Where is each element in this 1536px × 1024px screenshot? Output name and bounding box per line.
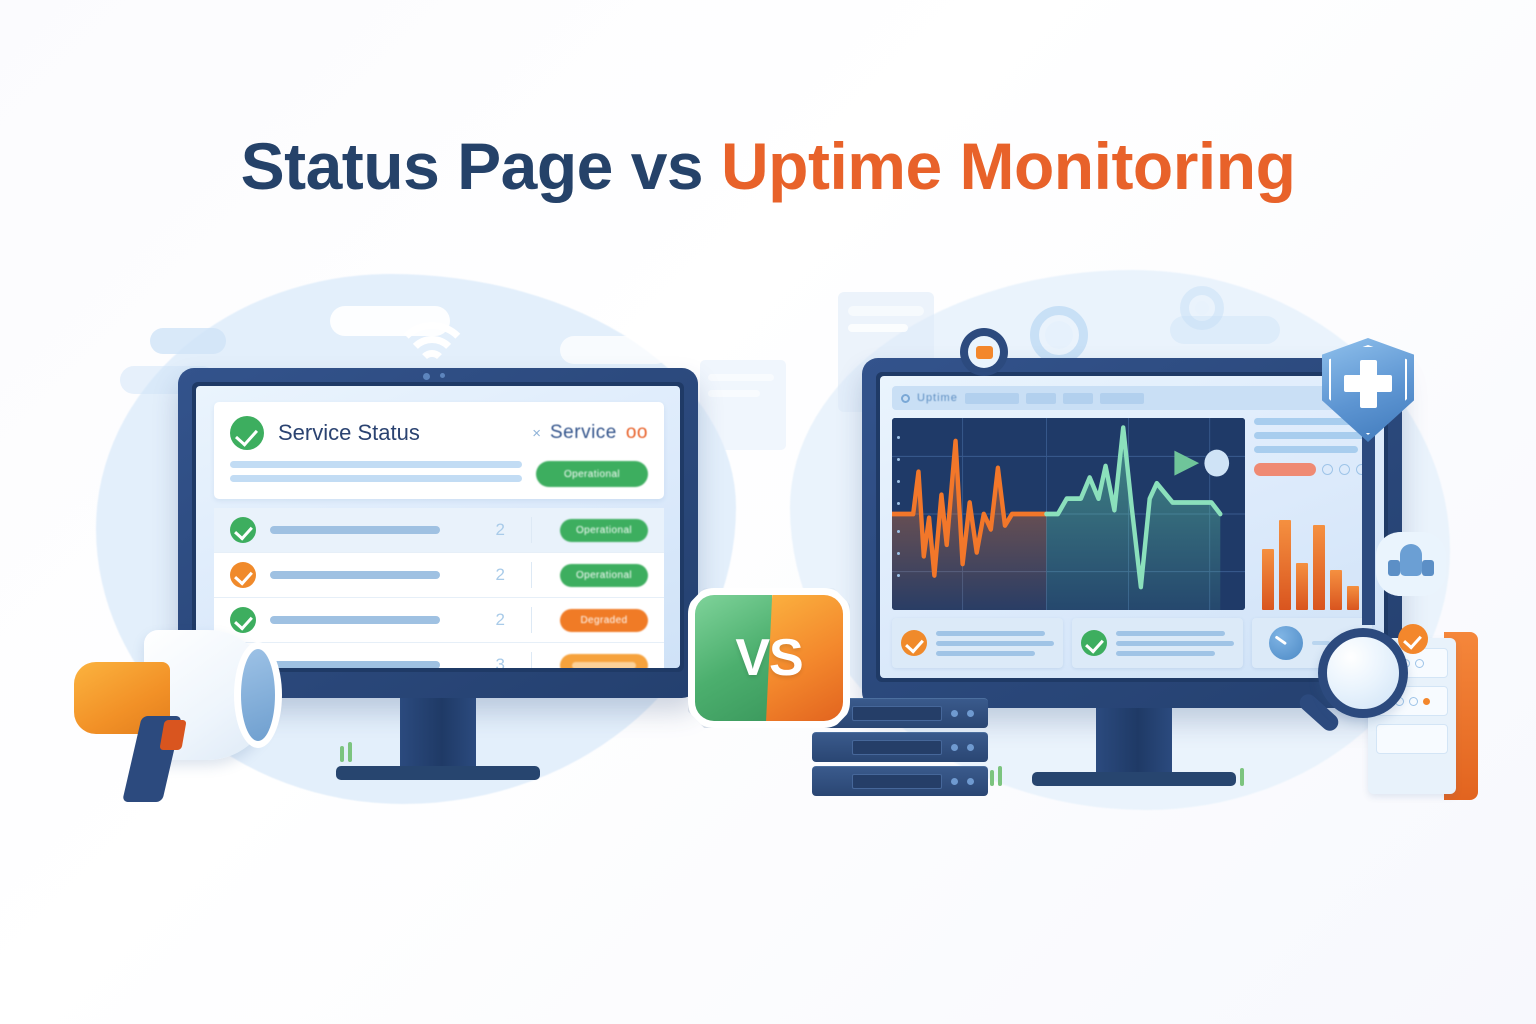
ring-icon	[1339, 464, 1350, 475]
row-status-pill: Operational	[560, 519, 648, 542]
ring-icon	[1322, 464, 1333, 475]
close-icon: ×	[532, 425, 541, 442]
row-status-pill: Operational	[560, 564, 648, 587]
table-row[interactable]: 2 Operational	[214, 508, 664, 553]
grass-decoration	[348, 742, 352, 762]
service-status-card: Service Status × Service oo Operational	[214, 402, 664, 499]
dashboard-card[interactable]	[892, 618, 1063, 668]
rocket-cloud-icon	[1376, 532, 1446, 596]
card-check-icon	[1081, 630, 1107, 656]
background-document	[848, 324, 908, 332]
row-number: 3	[496, 655, 517, 668]
row-status-pill	[560, 654, 648, 669]
background-document	[848, 306, 924, 316]
dashboard-card[interactable]	[1072, 618, 1243, 668]
gear-icon	[1030, 306, 1088, 364]
page-title: Status Page vs Uptime Monitoring	[0, 128, 1536, 204]
gear-badge-icon	[960, 328, 1008, 376]
uptime-chart	[892, 418, 1245, 610]
illustration-scene: Service Status × Service oo Operational	[0, 250, 1536, 870]
cloud-icon	[150, 328, 226, 354]
vs-badge: VS	[688, 588, 850, 728]
brand-lockup: × Service oo	[532, 422, 648, 444]
monitor-stand-neck	[400, 698, 476, 770]
status-check-icon	[230, 416, 264, 450]
shield-pole	[1362, 425, 1375, 625]
vs-label: VS	[688, 588, 850, 728]
background-document	[708, 390, 760, 397]
table-row[interactable]: 2 Operational	[214, 553, 664, 598]
row-number: 2	[496, 610, 517, 630]
uptime-chart-svg	[892, 418, 1245, 610]
monitor-stand-base	[1032, 772, 1236, 786]
dashboard-topbar: Uptime	[892, 386, 1372, 410]
grass-decoration	[340, 746, 344, 762]
megaphone-icon	[58, 620, 308, 810]
sidebar-bar-chart	[1254, 492, 1372, 610]
row-check-icon	[230, 562, 256, 588]
cloud-icon	[560, 336, 670, 364]
circle-outline-icon	[901, 394, 910, 403]
brand-dot: oo	[626, 422, 648, 444]
service-status-heading: Service Status	[278, 420, 420, 446]
title-blue-part: Status Page vs	[241, 129, 704, 203]
topbar-label: Uptime	[917, 392, 958, 404]
monitor-stand-base	[336, 766, 540, 780]
title-orange-part: Uptime Monitoring	[721, 129, 1295, 203]
grass-decoration	[1240, 768, 1244, 786]
gear-icon	[1180, 286, 1224, 330]
row-check-icon	[230, 517, 256, 543]
magnifier-icon	[1288, 628, 1408, 753]
circle-marker-icon	[1204, 450, 1229, 477]
row-number: 2	[496, 520, 517, 540]
row-number: 2	[496, 565, 517, 585]
sidebar-status-pill	[1254, 463, 1316, 476]
background-document	[708, 374, 774, 381]
card-check-icon	[901, 630, 927, 656]
row-status-pill: Degraded	[560, 609, 648, 632]
dashboard-sidebar	[1254, 418, 1372, 610]
brand-text: Service	[550, 422, 617, 444]
grass-decoration	[998, 766, 1002, 786]
monitor-stand-neck	[1096, 708, 1172, 776]
shield-health-icon	[1322, 338, 1414, 442]
header-status-pill: Operational	[536, 461, 648, 487]
